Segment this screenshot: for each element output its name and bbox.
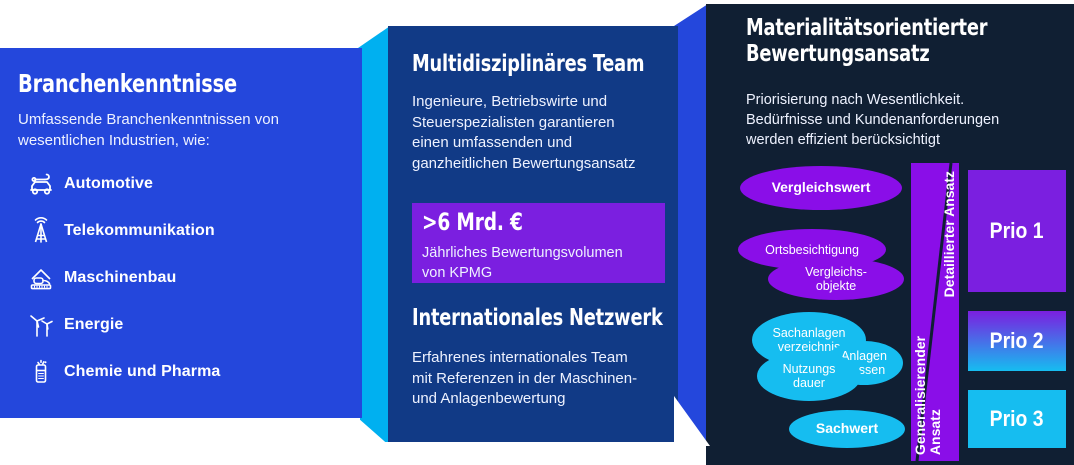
industry-list: Automotive Telekommunikation — [18, 160, 348, 395]
test-tube-icon — [18, 358, 64, 386]
band-label-generalised: Generalisierender Ansatz — [913, 336, 943, 455]
priority-label: Prio 1 — [990, 218, 1044, 244]
factory-machine-icon — [18, 265, 64, 291]
industry-label: Automotive — [64, 175, 153, 193]
priority-label: Prio 2 — [990, 328, 1044, 354]
panel-2-title-secondary: Internationales Netzwerk — [412, 306, 663, 332]
list-item: Chemie und Pharma — [18, 348, 348, 395]
panel-3-subtitle: Priorisierung nach Wesentlichkeit. Bedür… — [746, 90, 1066, 150]
panel-1-title: Branchenkenntnisse — [18, 70, 237, 98]
list-item: Automotive — [18, 160, 348, 207]
kpi-caption: Jährliches Bewertungsvolumen von KPMG — [422, 243, 662, 283]
panel-2-bottom-gap — [646, 442, 676, 465]
priority-box-2: Prio 2 — [968, 311, 1066, 371]
priority-box-3: Prio 3 — [968, 390, 1066, 448]
bubble-vergleichsobjekte: Vergleichs- objekte — [768, 258, 904, 300]
panel-1-subtitle: Umfassende Branchenkenntnissen von wesen… — [18, 110, 348, 151]
panel-1-bottom-gap — [330, 418, 360, 465]
infographic-canvas: Branchenkenntnisse Umfassende Branchenke… — [0, 0, 1074, 465]
list-item: Energie — [18, 301, 348, 348]
industry-label: Chemie und Pharma — [64, 363, 220, 381]
panel-2-subtitle: Ingenieure, Betriebswirte und Steuerspez… — [412, 92, 662, 175]
wind-turbine-icon — [18, 311, 64, 339]
industry-label: Maschinenbau — [64, 269, 176, 287]
list-item: Maschinenbau — [18, 254, 348, 301]
panel-2-subtitle-secondary: Erfahrenes internationales Team mit Refe… — [412, 348, 667, 410]
kpi-callout: >6 Mrd. € Jährliches Bewertungsvolumen v… — [412, 203, 665, 283]
priority-box-1: Prio 1 — [968, 170, 1066, 292]
bubble-nutzungsdauer: Nutzungs dauer — [757, 351, 861, 401]
car-icon — [18, 171, 64, 197]
panel-2-title: Multidisziplinäres Team — [412, 52, 644, 78]
list-item: Telekommunikation — [18, 207, 348, 254]
industry-label: Energie — [64, 316, 123, 334]
kpi-value: >6 Mrd. € — [422, 209, 523, 236]
industry-label: Telekommunikation — [64, 222, 215, 240]
approach-band: Detaillierter Ansatz Generalisierender A… — [911, 163, 959, 461]
panel-2-side-strip — [358, 26, 390, 442]
panel-3-side-strip — [674, 4, 708, 442]
band-label-detailed: Detaillierter Ansatz — [942, 171, 957, 297]
antenna-tower-icon — [18, 217, 64, 245]
panel-3-title: Materialitätsorientierter Bewertungsansa… — [746, 16, 1013, 68]
bubble-vergleichswert: Vergleichswert — [740, 166, 902, 210]
bubble-sachwert: Sachwert — [789, 410, 905, 448]
priority-label: Prio 3 — [990, 406, 1044, 432]
